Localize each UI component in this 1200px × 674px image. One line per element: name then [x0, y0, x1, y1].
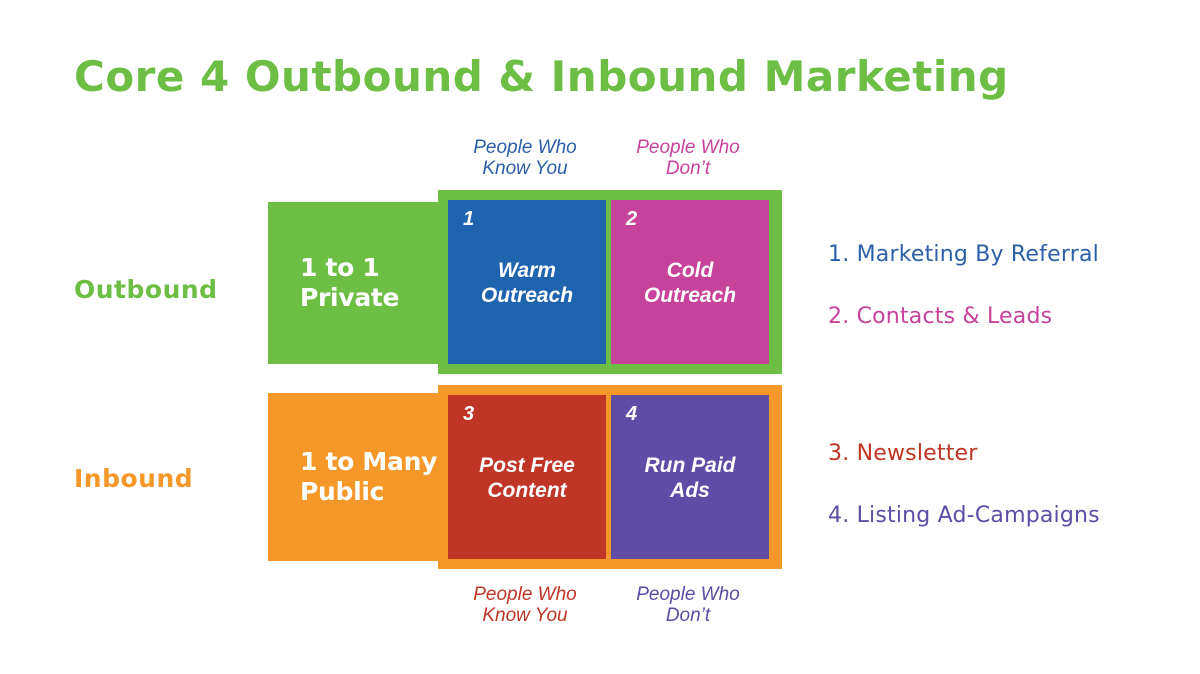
quadrant-label-line1: Post Free: [479, 454, 575, 477]
column-header-line1: People Who: [636, 137, 740, 158]
column-header-line1: People Who: [636, 584, 740, 605]
column-header-line1: People Who: [473, 137, 577, 158]
column-header-line2: Don’t: [598, 605, 778, 626]
quadrant-number: 3: [463, 403, 474, 426]
quadrant-label: Post Free Content: [448, 453, 606, 503]
quadrant-number: 1: [463, 208, 474, 231]
legend-item-2: 2. Contacts & Leads: [828, 304, 1052, 329]
quadrant-label-line2: Content: [448, 478, 606, 503]
quadrant-label-line2: Ads: [611, 478, 769, 503]
legend-item-3: 3. Newsletter: [828, 441, 978, 466]
row-panel-inbound-text: 1 to Many Public: [300, 447, 437, 507]
quadrant-cell-cold-outreach[interactable]: 2 Cold Outreach: [611, 200, 769, 364]
column-header-top-know-you: People Who Know You: [435, 137, 615, 179]
row-panel-outbound-text: 1 to 1 Private: [300, 253, 399, 313]
legend-item-1: 1. Marketing By Referral: [828, 242, 1099, 267]
column-header-bottom-dont: People Who Don’t: [598, 584, 778, 626]
row-label-inbound: Inbound: [74, 464, 193, 493]
quadrant-label: Cold Outreach: [611, 258, 769, 308]
quadrant-label-line1: Cold: [667, 259, 714, 282]
quadrant-label-line2: Outreach: [448, 283, 606, 308]
quadrant-number: 4: [626, 403, 637, 426]
row-panel-line1: 1 to Many: [300, 447, 437, 476]
quadrant-label-line1: Run Paid: [644, 454, 735, 477]
column-header-line2: Know You: [435, 158, 615, 179]
row-panel-inbound: 1 to Many Public: [268, 393, 454, 561]
quadrant-cell-warm-outreach[interactable]: 1 Warm Outreach: [448, 200, 606, 364]
row-panel-line2: Public: [300, 477, 437, 507]
page-title: Core 4 Outbound & Inbound Marketing: [74, 52, 1009, 101]
column-header-line1: People Who: [473, 584, 577, 605]
row-panel-outbound: 1 to 1 Private: [268, 202, 454, 364]
column-header-top-dont: People Who Don’t: [598, 137, 778, 179]
quadrant-label: Run Paid Ads: [611, 453, 769, 503]
row-label-outbound: Outbound: [74, 275, 218, 304]
quadrant-label: Warm Outreach: [448, 258, 606, 308]
quadrant-number: 2: [626, 208, 637, 231]
quadrant-cell-run-paid-ads[interactable]: 4 Run Paid Ads: [611, 395, 769, 559]
row-panel-line2: Private: [300, 283, 399, 313]
column-header-line2: Don’t: [598, 158, 778, 179]
quadrant-label-line2: Outreach: [611, 283, 769, 308]
quadrant-label-line1: Warm: [498, 259, 556, 282]
legend-item-4: 4. Listing Ad-Campaigns: [828, 503, 1100, 528]
slide-canvas: Core 4 Outbound & Inbound Marketing Peop…: [0, 0, 1200, 674]
row-panel-line1: 1 to 1: [300, 253, 380, 282]
column-header-bottom-know-you: People Who Know You: [435, 584, 615, 626]
quadrant-cell-post-free-content[interactable]: 3 Post Free Content: [448, 395, 606, 559]
column-header-line2: Know You: [435, 605, 615, 626]
